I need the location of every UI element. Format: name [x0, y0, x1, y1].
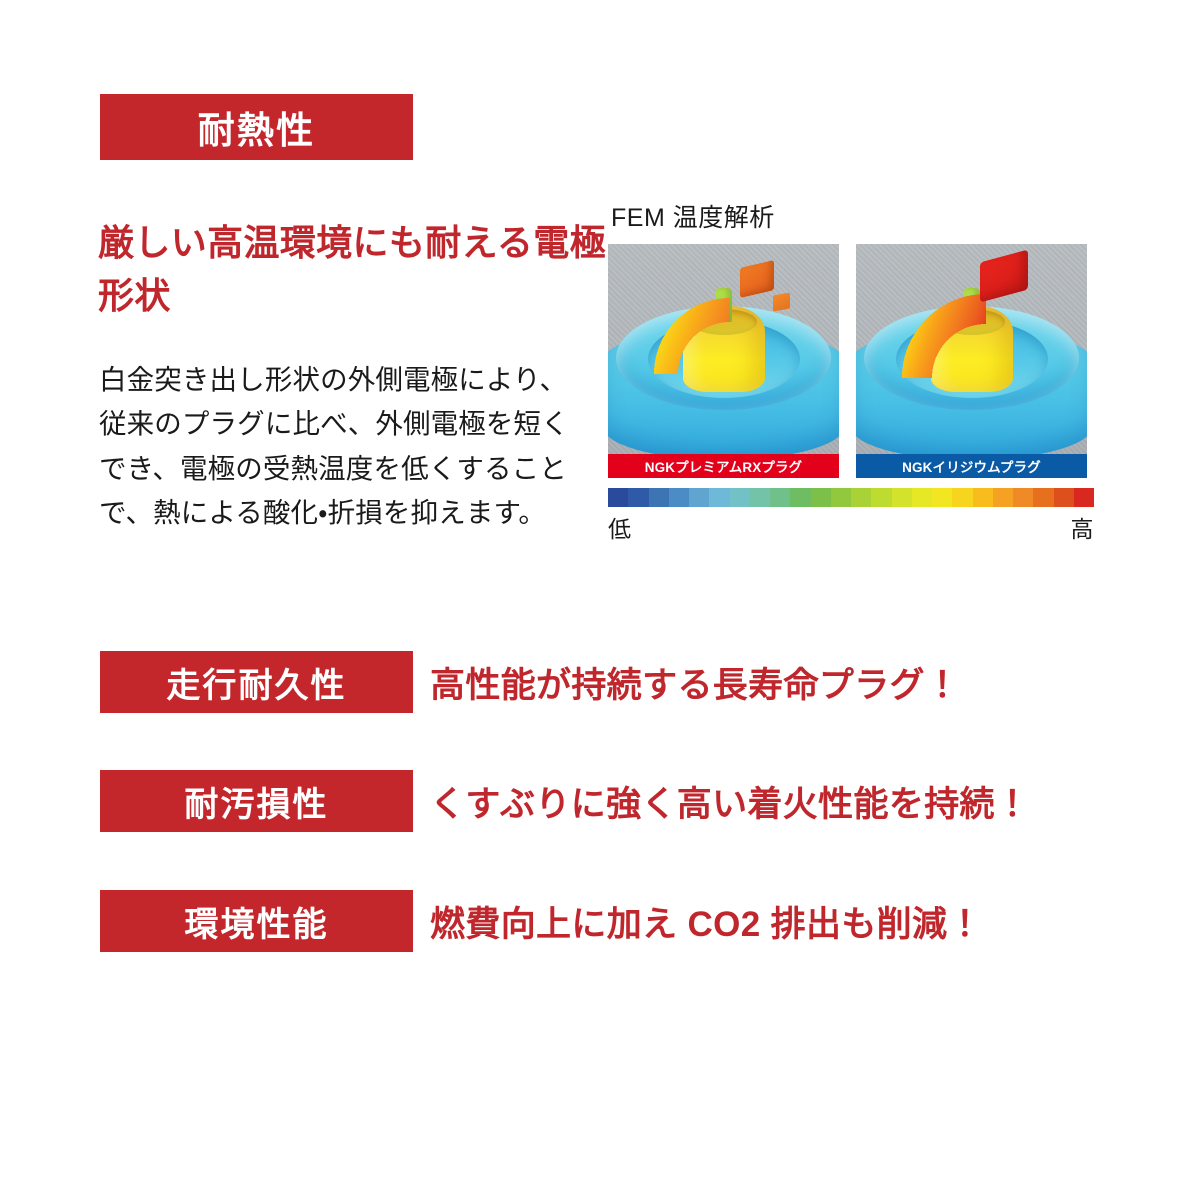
feature-row-fouling-resistance: 耐汚損性 くすぶりに強く高い着火性能を持続！: [0, 770, 1200, 832]
color-scale-swatch-22: [1054, 488, 1074, 507]
color-scale-swatch-12: [851, 488, 871, 507]
color-scale-swatch-4: [689, 488, 709, 507]
color-scale-swatch-17: [952, 488, 972, 507]
fem-panel-premium-rx: NGKプレミアムRXプラグ: [608, 244, 839, 478]
feature-row-environmental: 環境性能 燃費向上に加え CO2 排出も削減！: [0, 890, 1200, 952]
fem-panel-iridium: NGKイリジウムプラグ: [856, 244, 1087, 478]
heat-resistance-heading: 厳しい高温環境にも耐える電極形状: [98, 216, 618, 323]
arm-tip: [740, 260, 774, 298]
feature-text-durability: 高性能が持続する長寿命プラグ！: [430, 651, 960, 713]
section-tag-heat-resistance: 耐熱性: [100, 94, 413, 160]
feature-row-durability: 走行耐久性 高性能が持続する長寿命プラグ！: [0, 651, 1200, 713]
arm-platinum-tip: [773, 293, 790, 312]
color-scale-swatch-19: [993, 488, 1013, 507]
color-scale-swatch-2: [649, 488, 669, 507]
color-scale-swatch-9: [790, 488, 810, 507]
color-scale-swatch-6: [730, 488, 750, 507]
ground-electrode-arm-icon: [874, 254, 1006, 382]
fem-panel-row: NGKプレミアムRXプラグ NGKイリジウムプラグ: [608, 244, 1094, 478]
color-scale-swatch-15: [912, 488, 932, 507]
feature-tag-environmental: 環境性能: [100, 890, 413, 952]
feature-text-environmental: 燃費向上に加え CO2 排出も削減！: [430, 890, 983, 952]
feature-text-fouling-resistance: くすぶりに強く高い着火性能を持続！: [430, 770, 1030, 832]
thermal-render-iridium: [856, 244, 1087, 454]
color-scale-swatch-7: [750, 488, 770, 507]
temperature-color-scale: 低 高: [608, 488, 1094, 544]
feature-page: 耐熱性 厳しい高温環境にも耐える電極形状 白金突き出し形状の外側電極により、従来…: [0, 0, 1200, 1200]
arm-tip: [980, 250, 1028, 303]
fem-panel-label-premium-rx: NGKプレミアムRXプラグ: [608, 454, 839, 478]
color-scale-swatch-10: [811, 488, 831, 507]
feature-tag-fouling-resistance: 耐汚損性: [100, 770, 413, 832]
color-scale-swatch-14: [892, 488, 912, 507]
color-scale-bar: [608, 488, 1094, 507]
color-scale-swatch-20: [1013, 488, 1033, 507]
color-scale-swatch-11: [831, 488, 851, 507]
color-scale-swatch-21: [1033, 488, 1053, 507]
color-scale-swatch-8: [770, 488, 790, 507]
scale-label-low: 低: [608, 510, 631, 544]
color-scale-swatch-23: [1074, 488, 1094, 507]
color-scale-swatch-0: [608, 488, 628, 507]
color-scale-swatch-5: [709, 488, 729, 507]
arm-heat-gradient: [874, 254, 986, 378]
arm-heat-gradient: [630, 258, 730, 374]
feature-tag-durability: 走行耐久性: [100, 651, 413, 713]
color-scale-swatch-18: [973, 488, 993, 507]
fem-analysis-title: FEM 温度解析: [611, 198, 1094, 234]
scale-label-high: 高: [1071, 510, 1094, 544]
color-scale-end-labels: 低 高: [608, 510, 1094, 544]
color-scale-swatch-16: [932, 488, 952, 507]
color-scale-swatch-3: [669, 488, 689, 507]
ground-electrode-arm-icon: [630, 258, 750, 378]
fem-panel-label-iridium: NGKイリジウムプラグ: [856, 454, 1087, 478]
heat-resistance-body-text: 白金突き出し形状の外側電極により、従来のプラグに比べ、外側電極を短くでき、電極の…: [99, 358, 591, 536]
color-scale-swatch-1: [628, 488, 648, 507]
thermal-render-premium-rx: [608, 244, 839, 454]
color-scale-swatch-13: [871, 488, 891, 507]
fem-analysis-block: FEM 温度解析 NGKプレミアムRXプラグ: [608, 198, 1094, 544]
